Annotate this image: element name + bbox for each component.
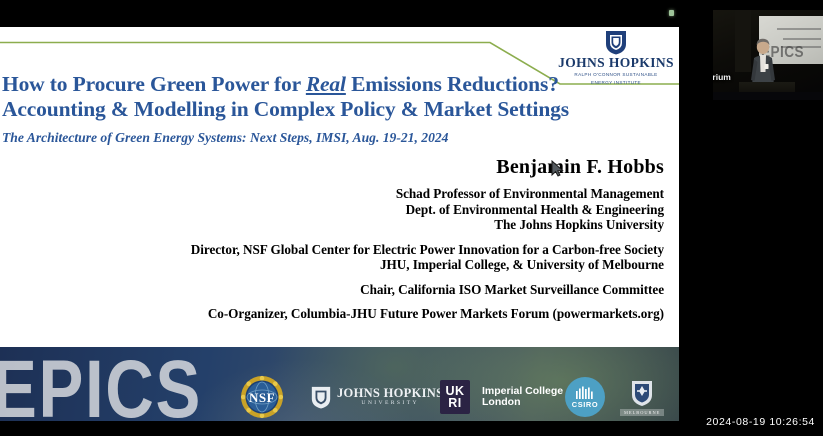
slide-footer-band: EPICS NSF [0, 347, 679, 421]
ukri-icon: UK RI [440, 380, 470, 414]
logo-imperial-college: Imperial College London [482, 347, 563, 421]
mouse-cursor [551, 160, 564, 177]
csiro-bars-icon [575, 386, 595, 399]
logo-csiro: CSIRO [565, 347, 605, 421]
slide-title-line-2: Accounting & Modelling in Complex Policy… [2, 97, 662, 122]
slide-title-line-1: How to Procure Green Power for Real Emis… [2, 72, 662, 97]
logo-johns-hopkins: JOHNS HOPKINS UNIVERSITY [310, 347, 443, 421]
jhu-logo-sub: UNIVERSITY [337, 401, 443, 407]
presenter-affiliation: Dept. of Environmental Health & Engineer… [0, 202, 664, 218]
jhu-shield-icon [604, 29, 628, 55]
slide-subtitle: The Architecture of Green Energy Systems… [2, 129, 662, 147]
nsf-icon: NSF [240, 375, 284, 419]
slide-title-emphasis: Real [306, 72, 346, 96]
screen-recording-frame: JOHNS HOPKINS RALPH O'CONNOR SUSTAINABLE… [0, 0, 823, 436]
slide-title-line-1-head: How to Procure Green Power for [2, 72, 306, 96]
epics-watermark: EPICS [0, 349, 202, 421]
csiro-label: CSIRO [572, 400, 598, 409]
svg-text:NSF: NSF [249, 390, 275, 405]
ukri-label-bottom: RI [448, 397, 462, 409]
slide-title-block: How to Procure Green Power for Real Emis… [2, 72, 662, 147]
melbourne-label: MELBOURNE [620, 409, 664, 416]
presenter-affiliation: Co-Organizer, Columbia-JHU Future Power … [0, 306, 664, 322]
recording-timestamp: 2024-08-19 10:26:54 [706, 416, 815, 428]
presenter-block: Benjamin F. Hobbs Schad Professor of Env… [0, 155, 664, 322]
presenter-affiliation: Schad Professor of Environmental Managem… [0, 186, 664, 202]
presenter-affiliation: Director, NSF Global Center for Electric… [0, 242, 664, 258]
slide-title-line-1-tail: Emissions Reductions? [346, 72, 559, 96]
jhu-shield-icon [310, 385, 332, 409]
logo-ukri: UK RI [440, 347, 470, 421]
jhu-logo-name: JOHNS HOPKINS [337, 387, 443, 400]
presenter-name: Benjamin F. Hobbs [0, 155, 664, 179]
presenter-affiliation: The Johns Hopkins University [0, 217, 664, 233]
presenter-affiliation: JHU, Imperial College, & University of M… [0, 257, 664, 273]
csiro-icon: CSIRO [565, 377, 605, 417]
webcam-room-label: IMSI Auditorium [713, 72, 731, 82]
jhu-rosei-name: JOHNS HOPKINS [558, 56, 674, 70]
recording-led-indicator [669, 10, 674, 16]
logo-university-of-melbourne: MELBOURNE [620, 347, 664, 421]
logo-nsf: NSF [240, 347, 284, 421]
melbourne-crest-icon [629, 379, 655, 407]
presenter-affiliation: Chair, California ISO Market Surveillanc… [0, 282, 664, 298]
presentation-slide: JOHNS HOPKINS RALPH O'CONNOR SUSTAINABLE… [0, 27, 679, 421]
webcam-video-panel[interactable]: EPICS IMSI Auditorium [713, 10, 823, 100]
webcam-floor [713, 92, 823, 100]
imperial-label-bottom: London [482, 397, 563, 409]
